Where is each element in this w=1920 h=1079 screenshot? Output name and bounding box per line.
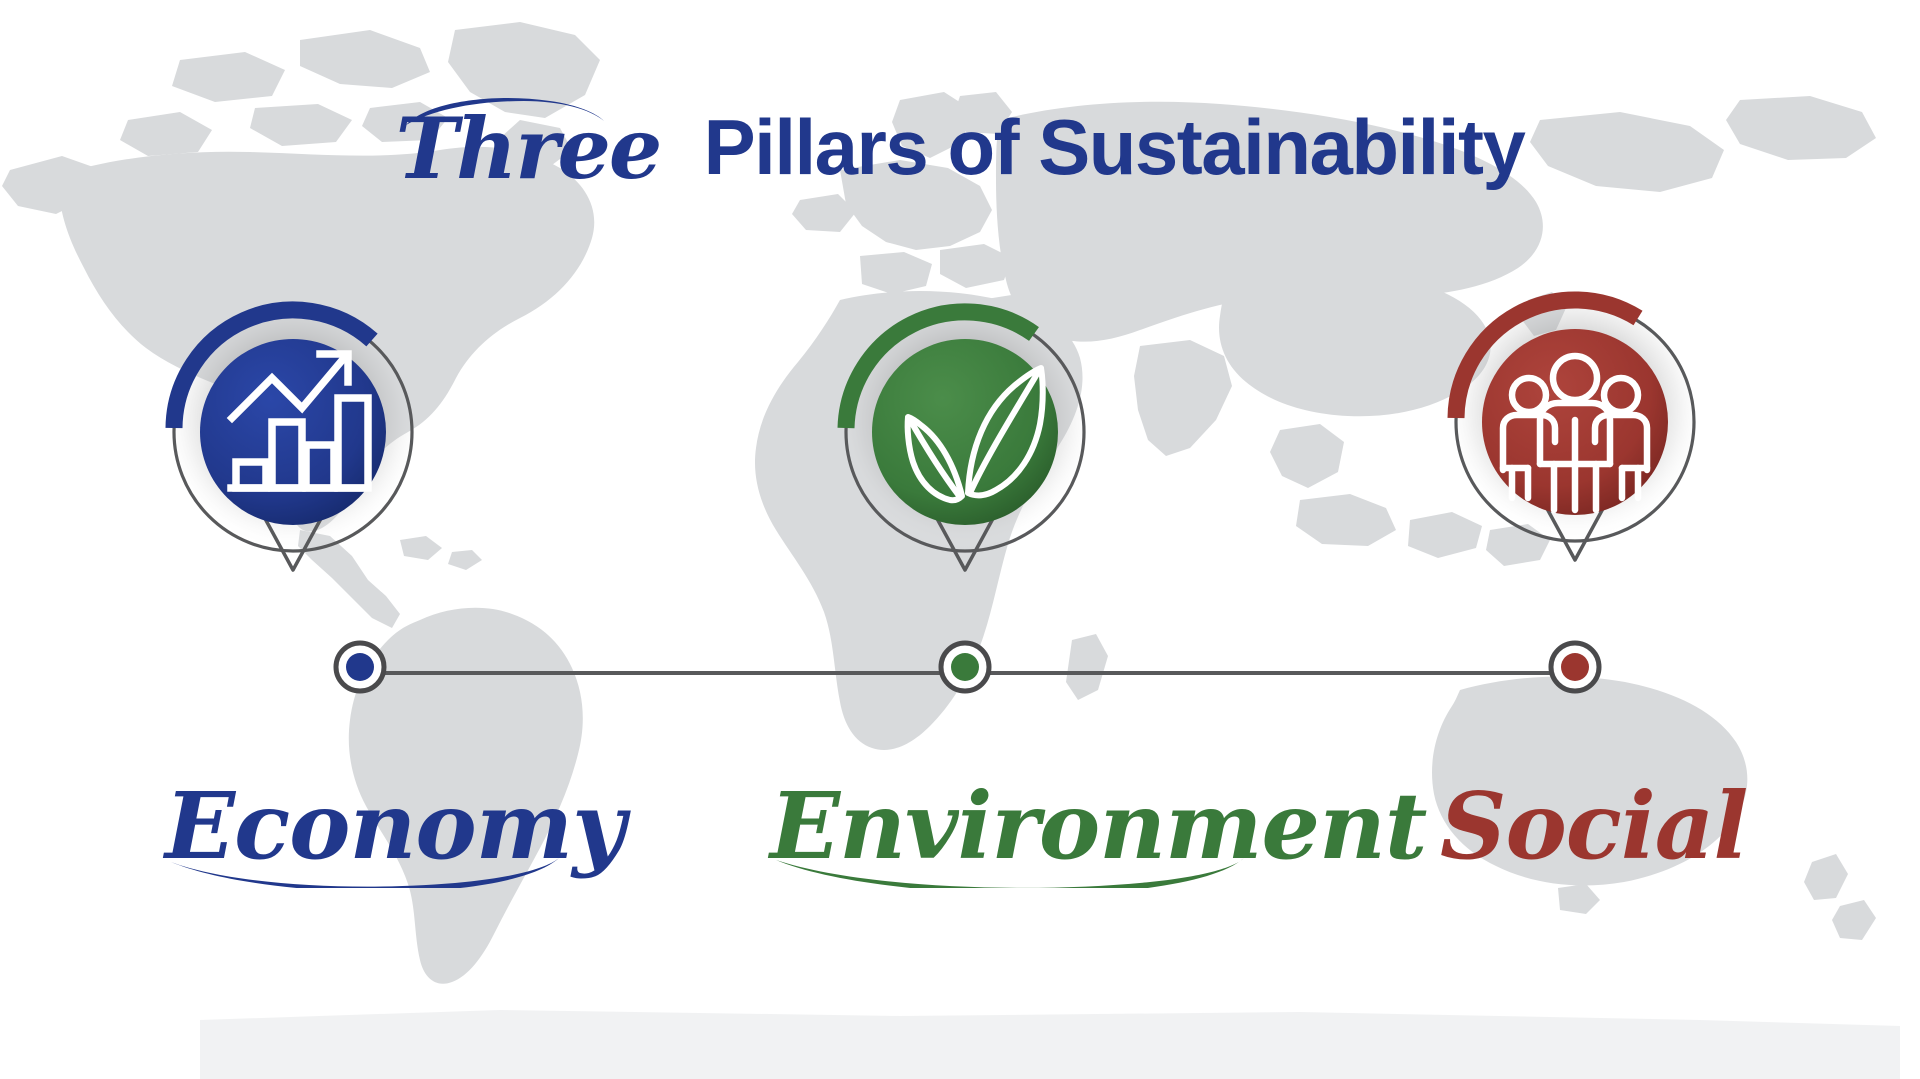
pillar-pin-environment[interactable] — [820, 240, 1110, 640]
timeline-dot-economy[interactable] — [328, 635, 392, 699]
timeline-dot-environment[interactable] — [933, 635, 997, 699]
page-title: Three Pillars of Sustainability — [0, 95, 1920, 194]
pillar-pin-social[interactable] — [1430, 230, 1720, 630]
title-main-text: Pillars of Sustainability — [704, 103, 1525, 191]
badge-inner-disc — [200, 339, 386, 525]
pillar-label-environment: Environment — [770, 780, 1426, 872]
pillar-label-social: Social — [1440, 780, 1747, 872]
title-script-word: Three — [396, 99, 688, 198]
badge-inner-disc — [872, 339, 1058, 525]
timeline-dot-social[interactable] — [1543, 635, 1607, 699]
pillar-pin-economy[interactable] — [148, 240, 438, 640]
pillar-label-economy: Economy — [165, 780, 625, 872]
infographic-canvas: Three Pillars of Sustainability — [0, 0, 1920, 1079]
